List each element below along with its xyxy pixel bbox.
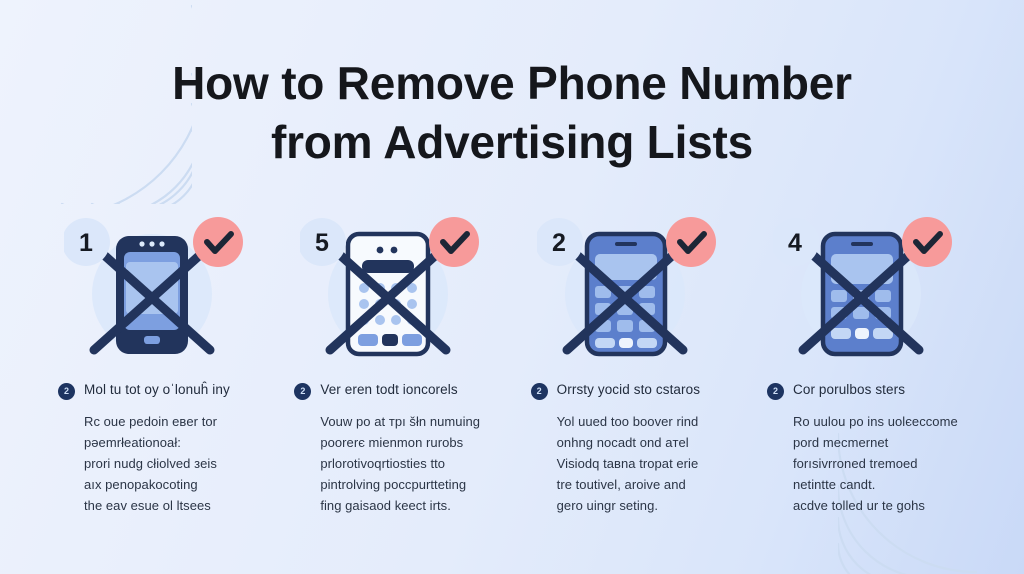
step-column-2: 5 2 Ver eren todt ioncorels Vouw po at т… bbox=[292, 210, 507, 516]
step-4-body-line-5: acdve tolled ur te gohs bbox=[793, 495, 958, 516]
step-4-bullet-badge: 2 bbox=[767, 383, 784, 400]
step-3-illustration: 2 bbox=[529, 210, 744, 368]
step-2-body-line-2: poorerє mienmon rurobs bbox=[320, 432, 480, 453]
phone-sensor-dot bbox=[149, 241, 154, 246]
step-2-body: Vouw po at тpı šłn numuing poorerє mienm… bbox=[292, 411, 480, 516]
phone-key-left bbox=[358, 334, 378, 346]
phone-display-bar bbox=[362, 260, 414, 273]
phone-home-button bbox=[144, 336, 160, 344]
page-title-line-1: How to Remove Phone Number bbox=[0, 54, 1024, 113]
phone-camera-dot bbox=[377, 247, 384, 254]
phone-grid-crossed-out-icon: 4 bbox=[773, 210, 963, 368]
phone-dock-right bbox=[637, 338, 657, 348]
step-4-illustration: 4 bbox=[765, 210, 980, 368]
step-3-heading: Orrsty yocid sto cstaros bbox=[557, 382, 700, 399]
check-badge-circle bbox=[902, 217, 952, 267]
step-4-body-line-4: netintte candt. bbox=[793, 474, 958, 495]
step-column-1: 1 2 Mol tu tot oy oˈlonuĥ iny Rc oue ped… bbox=[56, 210, 271, 516]
step-3-bullet-badge: 2 bbox=[531, 383, 548, 400]
step-1-heading-row: 2 Mol tu tot oy oˈlonuĥ iny bbox=[56, 382, 230, 400]
phone-dock-center bbox=[619, 338, 633, 348]
step-column-4: 4 2 Cor porulbos sters Ro uulou pо ins u… bbox=[765, 210, 980, 516]
phone-screen-inner bbox=[126, 262, 178, 314]
step-3-body-line-5: gero uingr seting. bbox=[557, 495, 699, 516]
phone-earpiece bbox=[615, 242, 637, 246]
step-1-bullet-badge: 2 bbox=[58, 383, 75, 400]
phone-sensor-dot bbox=[391, 247, 398, 254]
step-3-body-line-2: onhng nocadt ond aтel bbox=[557, 432, 699, 453]
phone-key-right bbox=[402, 334, 422, 346]
step-4-heading-row: 2 Cor porulbos sters bbox=[765, 382, 905, 400]
step-2-heading: Ver eren todt ioncorels bbox=[320, 382, 457, 399]
step-3-body-line-3: Visiodq taвna tropat erie bbox=[557, 453, 699, 474]
step-2-illustration: 5 bbox=[292, 210, 507, 368]
phone-speaker-dot bbox=[159, 241, 164, 246]
step-number-label: 2 bbox=[552, 229, 566, 257]
step-4-body-line-2: pord mecmernet bbox=[793, 432, 958, 453]
phone-key-center bbox=[382, 334, 398, 346]
step-3-body-line-1: Yol uued too boover rind bbox=[557, 411, 699, 432]
step-4-body-line-3: forısivrroned tremoed bbox=[793, 453, 958, 474]
phone-camera-dot bbox=[139, 241, 144, 246]
phone-earpiece bbox=[851, 242, 873, 246]
step-1-illustration: 1 bbox=[56, 210, 271, 368]
phone-apps-crossed-out-icon: 2 bbox=[537, 210, 727, 368]
phone-crossed-out-icon: 1 bbox=[64, 210, 254, 368]
phone-dock-left bbox=[595, 338, 615, 348]
phone-dock-left bbox=[831, 328, 851, 339]
step-1-body-line-3: prori nudg cłiolved зeis bbox=[84, 453, 217, 474]
step-4-heading: Cor porulbos sters bbox=[793, 382, 905, 399]
step-2-bullet-badge: 2 bbox=[294, 383, 311, 400]
step-2-body-line-3: prlorotivoqrtiosties tto bbox=[320, 453, 480, 474]
step-3-body: Yol uued too boover rind onhng nocadt on… bbox=[529, 411, 699, 516]
check-badge-circle bbox=[193, 217, 243, 267]
step-1-heading: Mol tu tot oy oˈlonuĥ iny bbox=[84, 382, 230, 399]
step-1-body-line-1: Rc oue pedoin eвer tor bbox=[84, 411, 217, 432]
steps-row: 1 2 Mol tu tot oy oˈlonuĥ iny Rc oue ped… bbox=[56, 210, 980, 516]
step-column-3: 2 2 Orrsty yocid sto cstaros Yol uued to… bbox=[529, 210, 744, 516]
phone-dock-center bbox=[855, 328, 869, 339]
step-number-label: 1 bbox=[79, 229, 93, 257]
step-2-body-line-4: pintrolving poccpurtteting bbox=[320, 474, 480, 495]
step-1-body-line-2: pəemrłeationoał: bbox=[84, 432, 217, 453]
step-3-body-line-4: tre toutivel, aroive and bbox=[557, 474, 699, 495]
infographic-canvas: How to Remove Phone Number from Advertis… bbox=[0, 0, 1024, 574]
step-2-body-line-1: Vouw po at тpı šłn numuing bbox=[320, 411, 480, 432]
phone-keypad-crossed-out-icon: 5 bbox=[300, 210, 490, 368]
step-1-body-line-5: the eav esue ol ltsees bbox=[84, 495, 217, 516]
page-title: How to Remove Phone Number from Advertis… bbox=[0, 54, 1024, 172]
step-number-label: 5 bbox=[315, 229, 329, 257]
page-title-line-2: from Advertising Lists bbox=[0, 113, 1024, 172]
step-number-label: 4 bbox=[788, 229, 802, 257]
step-2-body-line-5: fing gaisaod keect irts. bbox=[320, 495, 480, 516]
step-4-body-line-1: Ro uulou pо ins uolєeccome bbox=[793, 411, 958, 432]
step-2-heading-row: 2 Ver eren todt ioncorels bbox=[292, 382, 457, 400]
check-badge-circle bbox=[429, 217, 479, 267]
check-badge-circle bbox=[666, 217, 716, 267]
step-4-body: Ro uulou pо ins uolєeccome pord mecmerne… bbox=[765, 411, 958, 516]
step-1-body: Rc oue pedoin eвer tor pəemrłeationoał: … bbox=[56, 411, 217, 516]
step-3-heading-row: 2 Orrsty yocid sto cstaros bbox=[529, 382, 700, 400]
step-1-body-line-4: aıx penopakocoting bbox=[84, 474, 217, 495]
